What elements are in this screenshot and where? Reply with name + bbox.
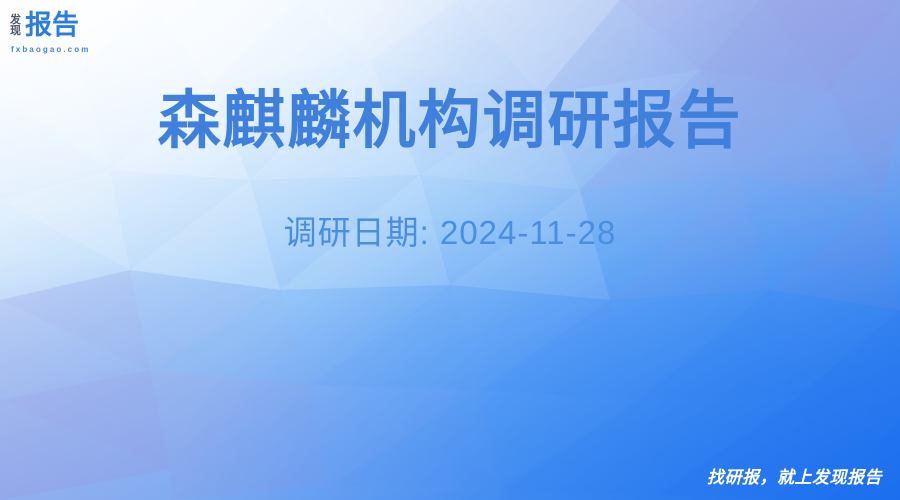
logo-row: 发 现 报告 <box>10 9 106 42</box>
logo-mark-bottom-char: 现 <box>10 26 21 37</box>
page-title: 森麒麟机构调研报告 <box>0 0 900 157</box>
footer-tagline: 找研报，就上发现报告 <box>707 463 882 488</box>
brand-logo[interactable]: 发 现 报告 fxbaogao.com <box>10 9 106 55</box>
survey-date-subtitle: 调研日期: 2024-11-28 <box>0 157 900 253</box>
cover-text-block: 森麒麟机构调研报告 调研日期: 2024-11-28 <box>0 0 900 252</box>
logo-url-text: fxbaogao.com <box>11 45 106 54</box>
report-cover-slide: 发 现 报告 fxbaogao.com 森麒麟机构调研报告 调研日期: 2024… <box>0 0 900 500</box>
logo-mark-stack: 发 现 <box>10 14 21 37</box>
logo-wordmark: 报告 <box>25 12 79 39</box>
